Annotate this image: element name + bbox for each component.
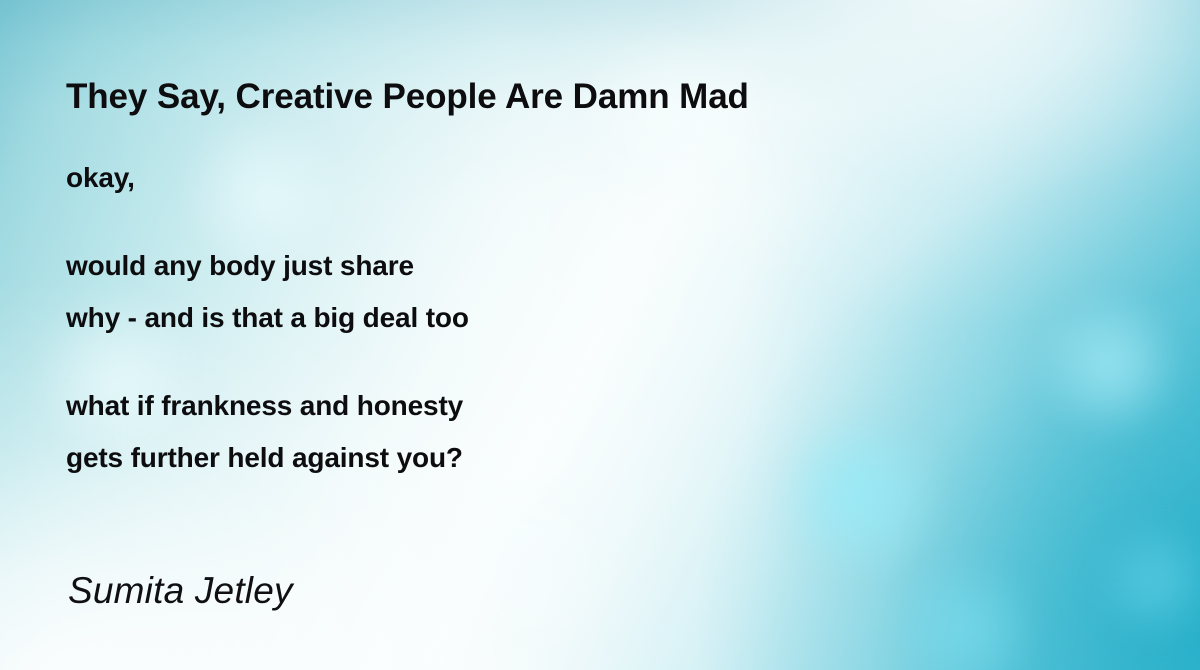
poem-line: okay,: [66, 152, 1066, 204]
poem-stanza: okay,: [66, 152, 1066, 204]
poem-author: Sumita Jetley: [68, 570, 293, 612]
poem-line: would any body just share: [66, 240, 1066, 292]
poem-line: what if frankness and honesty: [66, 380, 1066, 432]
poem-line: why - and is that a big deal too: [66, 292, 1066, 344]
poem-stanza: would any body just share why - and is t…: [66, 240, 1066, 344]
poem-body: okay, would any body just share why - an…: [66, 152, 1066, 484]
poem-line: gets further held against you?: [66, 432, 1066, 484]
poem-stanza: what if frankness and honesty gets furth…: [66, 380, 1066, 484]
poem-content: They Say, Creative People Are Damn Mad o…: [0, 0, 1200, 670]
poem-title: They Say, Creative People Are Damn Mad: [66, 77, 749, 117]
poem-card: They Say, Creative People Are Damn Mad o…: [0, 0, 1200, 670]
